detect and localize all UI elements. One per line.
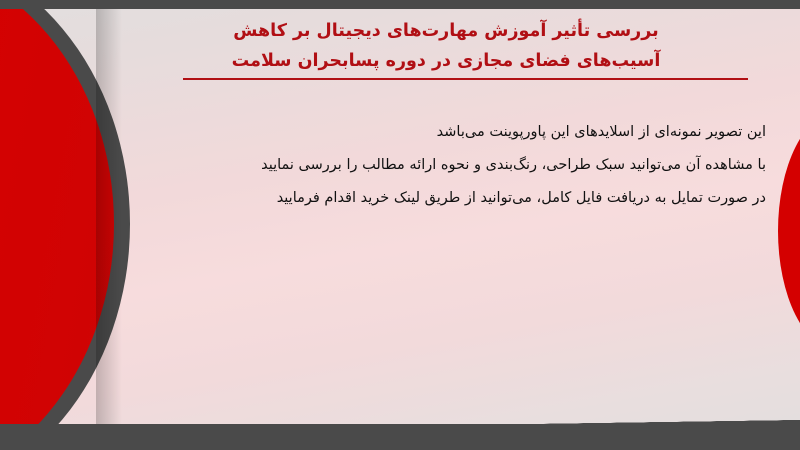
title-line-2: آسیب‌های فضای مجازی در دوره پسابحران سلا… — [126, 46, 766, 76]
slide-body: این تصویر نمونه‌ای از اسلایدهای این پاور… — [138, 116, 766, 215]
body-line-3: در صورت تمایل به دریافت فایل کامل، می‌تو… — [138, 182, 766, 215]
body-line-2: با مشاهده آن می‌توانید سبک طراحی، رنگ‌بن… — [138, 149, 766, 182]
presentation-slide: بررسی تأثیر آموزش مهارت‌های دیجیتال بر ک… — [0, 0, 800, 450]
title-line-1: بررسی تأثیر آموزش مهارت‌های دیجیتال بر ک… — [126, 16, 766, 46]
body-line-1: این تصویر نمونه‌ای از اسلایدهای این پاور… — [138, 116, 766, 149]
slide-title: بررسی تأثیر آموزش مهارت‌های دیجیتال بر ک… — [126, 16, 766, 80]
bottom-frame-bar — [0, 424, 800, 450]
title-underline-rule — [183, 78, 748, 80]
slide-content: بررسی تأثیر آموزش مهارت‌های دیجیتال بر ک… — [112, 8, 784, 424]
